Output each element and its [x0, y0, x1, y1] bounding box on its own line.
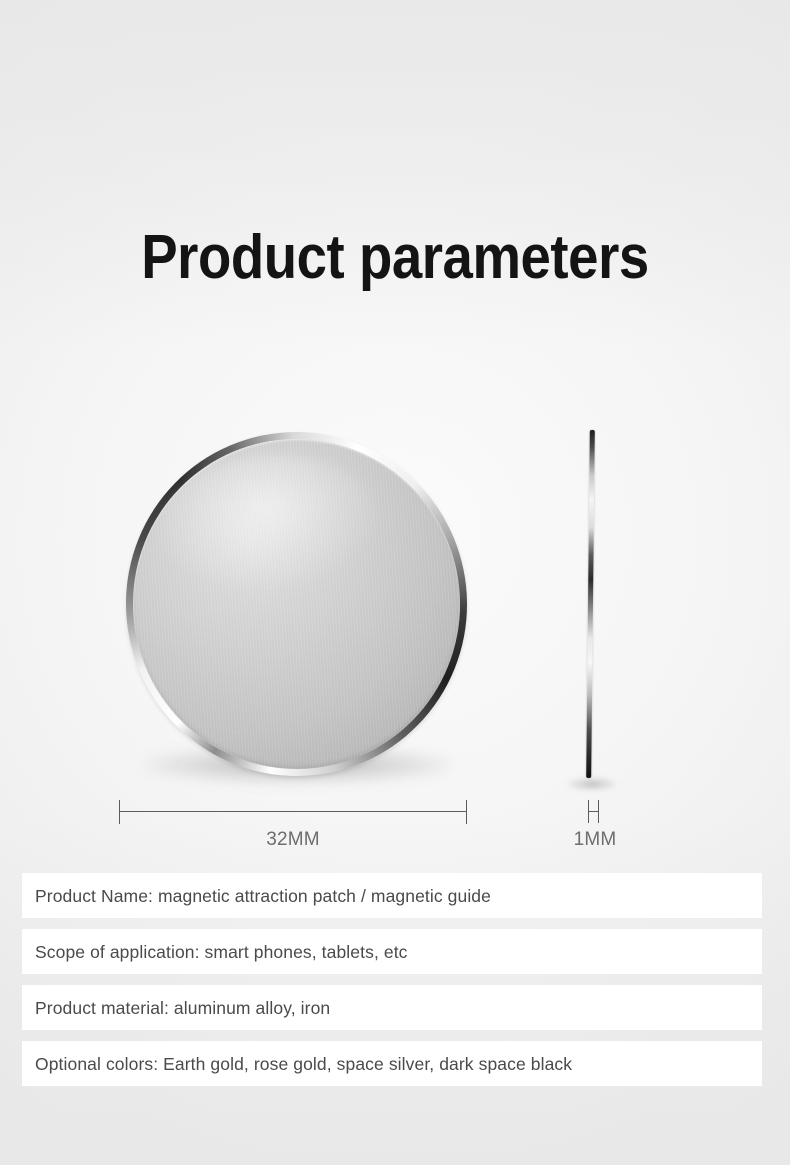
dimension-cap-right	[598, 800, 599, 823]
disc-brushed-surface	[117, 423, 477, 785]
spec-row-product-name: Product Name: magnetic attraction patch …	[22, 873, 762, 918]
spec-text: Product Name: magnetic attraction patch …	[35, 885, 491, 907]
specification-list: Product Name: magnetic attraction patch …	[22, 873, 762, 1086]
disc-bevel-rim	[109, 415, 484, 793]
diameter-dimension-label: 32MM	[119, 828, 467, 852]
thickness-dimension-label: 1MM	[533, 828, 657, 852]
dimension-cap-left	[119, 800, 120, 824]
spec-row-optional-colors: Optional colors: Earth gold, rose gold, …	[22, 1041, 762, 1086]
spec-text: Optional colors: Earth gold, rose gold, …	[35, 1053, 572, 1075]
page-title: Product parameters	[47, 219, 742, 297]
product-image-stage	[0, 410, 790, 810]
magnetic-disc-edge-view	[570, 430, 618, 782]
spec-row-product-material: Product material: aluminum alloy, iron	[22, 985, 762, 1030]
diameter-dimension-line	[119, 800, 467, 824]
spec-row-scope-of-application: Scope of application: smart phones, tabl…	[22, 929, 762, 974]
magnetic-disc-face-view	[126, 432, 467, 776]
disc-edge-profile	[586, 430, 595, 778]
disc-edge-shadow	[568, 778, 616, 790]
spec-text: Product material: aluminum alloy, iron	[35, 997, 330, 1019]
product-parameters-page: Product parameters 32MM 1MM Product Name…	[0, 0, 790, 1165]
dimension-cap-right	[466, 800, 467, 824]
thickness-dimension-line	[588, 800, 602, 823]
dimension-bar	[119, 811, 467, 812]
spec-text: Scope of application: smart phones, tabl…	[35, 941, 408, 963]
